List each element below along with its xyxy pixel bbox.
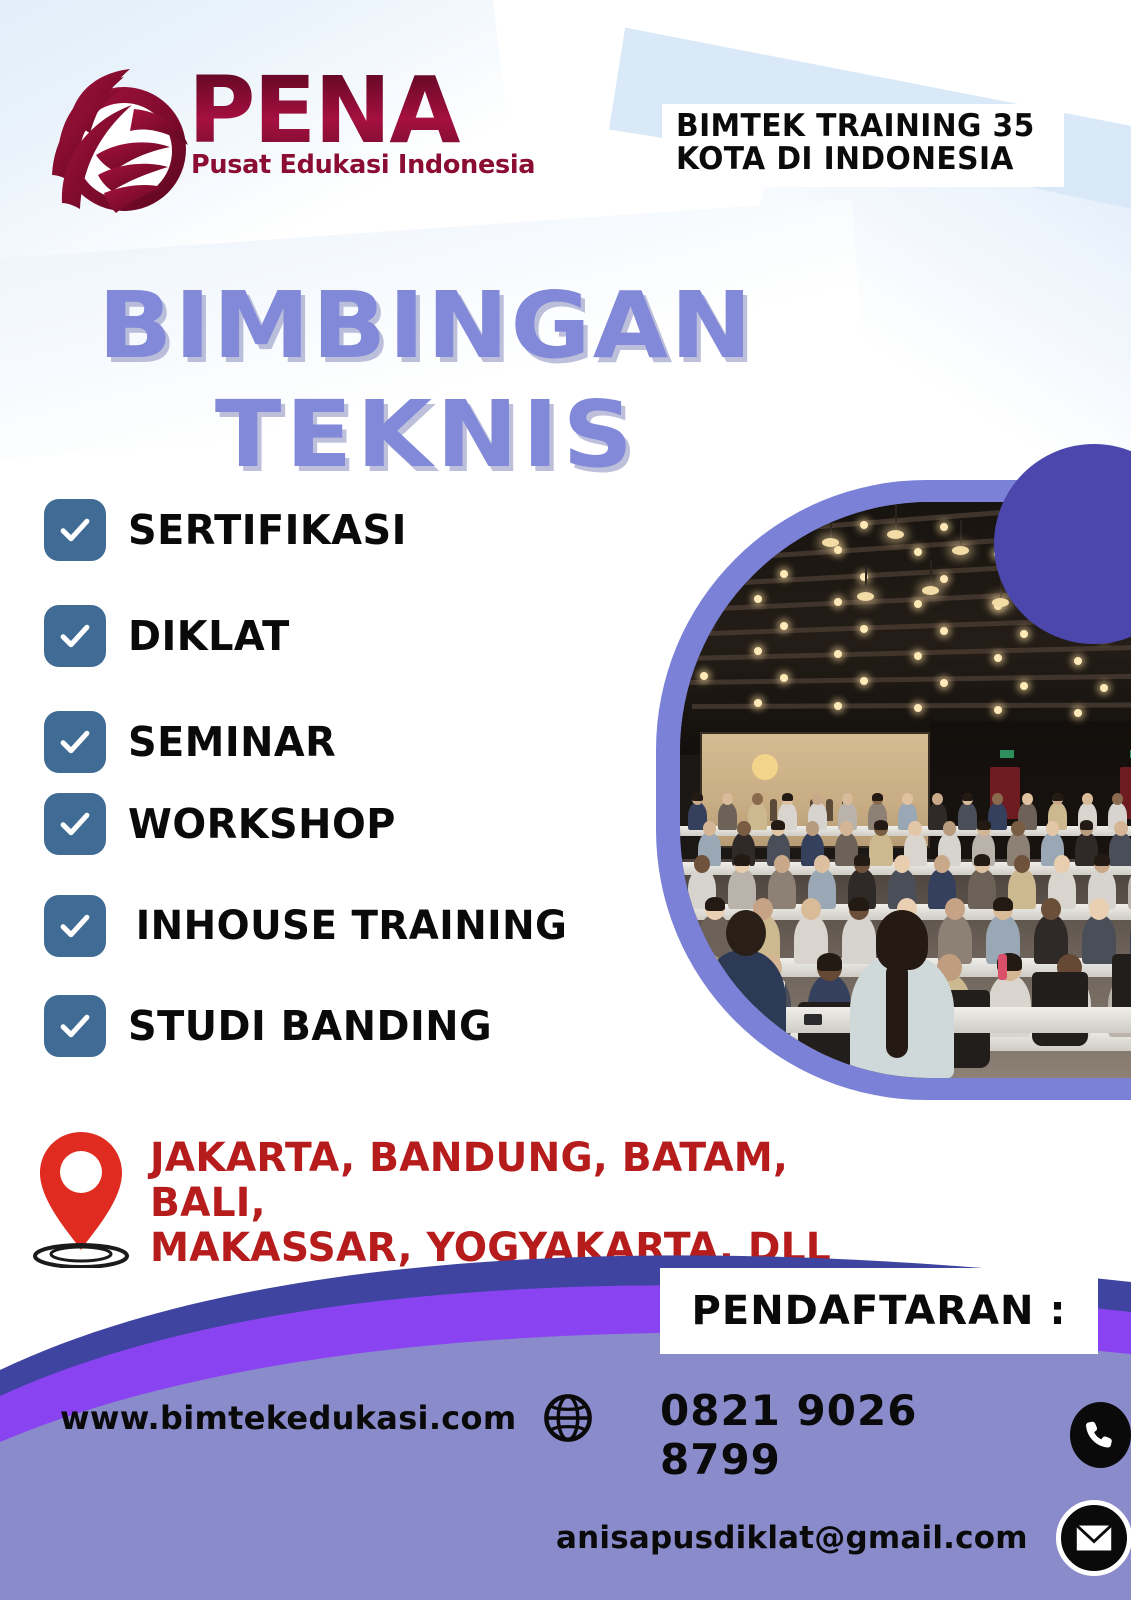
foreground-person-hair [726, 910, 766, 956]
audience-head [1014, 855, 1030, 873]
audience-person [718, 802, 737, 830]
screen-figure [770, 799, 777, 821]
brand-name: PENA [188, 67, 558, 154]
foreground-person-body [702, 950, 786, 1058]
check-icon [56, 511, 94, 549]
pendant-stem [865, 566, 867, 592]
pendant-stem [960, 520, 962, 546]
audience-head [703, 821, 717, 836]
audience-hair [849, 897, 869, 911]
audience-head [902, 793, 913, 805]
pendant-lamp [887, 530, 904, 539]
ceiling-spotlight [914, 704, 922, 712]
list-item-label: STUDI BANDING [128, 1002, 492, 1050]
audience-hair [977, 820, 991, 830]
pendant-lamp [822, 538, 839, 547]
audience-head [814, 855, 830, 873]
audience-head [934, 855, 950, 873]
audience-hair [705, 897, 725, 911]
registration-label: PENDAFTARAN : [692, 1288, 1067, 1334]
audience-person [869, 832, 892, 866]
audience-hair [817, 953, 842, 971]
screen-figure [826, 799, 833, 821]
audience-person [728, 868, 756, 909]
screen-graphic [752, 754, 778, 780]
list-item: WORKSHOP [44, 788, 704, 860]
audience-head [945, 898, 965, 920]
ceiling-spotlight [700, 568, 708, 576]
audience-head [1022, 793, 1033, 805]
envelope-icon [1056, 1500, 1131, 1576]
audience-head [1089, 898, 1109, 920]
check-box-icon [44, 605, 106, 667]
ceiling-spotlight [914, 600, 922, 608]
check-box-icon [44, 995, 106, 1057]
audience-person [968, 868, 996, 909]
audience-head [752, 793, 763, 805]
audience-person [748, 802, 767, 830]
ceiling-spotlight [860, 573, 868, 581]
audience-hair [1094, 854, 1110, 866]
audience-head [1112, 793, 1123, 805]
audience-person [768, 868, 796, 909]
pendant-lamp [992, 598, 1009, 607]
list-item: SEMINAR [44, 706, 704, 778]
page-title-line1: BIMBINGAN [0, 272, 878, 381]
email-text: anisapusdiklat@gmail.com [556, 1520, 1028, 1556]
ceiling-spotlight [1074, 709, 1082, 717]
list-item: SERTIFIKASI [44, 494, 704, 566]
pendant-lamp [857, 592, 874, 601]
pendant-stem [830, 512, 832, 538]
audience-head [932, 793, 943, 805]
list-item: INHOUSE TRAINING [44, 890, 704, 962]
audience-head [1082, 793, 1093, 805]
ceiling-spotlight [834, 546, 842, 554]
brand-tagline: Pusat Edukasi Indonesia [191, 150, 558, 180]
list-item-label: SEMINAR [128, 718, 336, 766]
audience-hair [872, 793, 883, 801]
audience-person [1082, 914, 1116, 964]
audience-head [722, 793, 733, 805]
header-badge-line1: BIMTEK TRAINING 35 [676, 110, 1035, 143]
audience-person [988, 802, 1007, 830]
pendant-stem [895, 504, 897, 530]
audience-head [894, 855, 910, 873]
audience-hair [874, 820, 888, 830]
audience-hair [782, 793, 793, 801]
ceiling-spotlight [834, 598, 842, 606]
ceiling-spotlight [700, 672, 708, 680]
check-icon [56, 1007, 94, 1045]
website-text: www.bimtekedukasi.com [60, 1399, 516, 1437]
audience-hair [993, 897, 1013, 911]
check-box-icon [44, 499, 106, 561]
audience-hair [734, 854, 750, 866]
audience-head [842, 793, 853, 805]
ceiling-spotlight [860, 625, 868, 633]
pendant-lamp [922, 586, 939, 595]
ceiling-spotlight [834, 650, 842, 658]
check-box-icon [44, 711, 106, 773]
poster-canvas: PENA Pusat Edukasi Indonesia BIMTEK TRAI… [0, 0, 1131, 1600]
list-item-label: DIKLAT [128, 612, 290, 660]
ceiling-spotlight [860, 677, 868, 685]
audience-head [992, 793, 1003, 805]
audience-person [842, 914, 876, 964]
audience-head [812, 793, 823, 805]
check-box-icon [44, 895, 106, 957]
foreground-person-hair [876, 910, 928, 970]
audience-head [1054, 855, 1070, 873]
ceiling-spotlight [860, 521, 868, 529]
logo-wordmark: PENA Pusat Edukasi Indonesia [188, 67, 558, 180]
ceiling-spotlight [700, 516, 708, 524]
audience-hair [692, 793, 703, 801]
seminar-photo [656, 480, 1131, 1100]
globe-icon [542, 1392, 594, 1444]
audience-head [737, 821, 751, 836]
audience-person [958, 802, 977, 830]
contact-phone[interactable]: 0821 9026 8799 [660, 1386, 1131, 1484]
foreground-person-ponytail [886, 962, 908, 1058]
check-box-icon [44, 793, 106, 855]
audience-head [806, 821, 820, 836]
audience-head [908, 821, 922, 836]
audience-hair [854, 854, 870, 866]
contact-website[interactable]: www.bimtekedukasi.com [60, 1392, 594, 1444]
audience-hair [1052, 793, 1063, 801]
check-icon [56, 617, 94, 655]
audience-head [1114, 821, 1128, 836]
phone-icon [1070, 1402, 1131, 1468]
ceiling-spotlight [914, 652, 922, 660]
audience-hair [962, 793, 973, 801]
smartphone [804, 1014, 822, 1025]
page-title-line2: TEKNIS [0, 381, 878, 490]
audience-head [1011, 821, 1025, 836]
list-item-label: WORKSHOP [128, 800, 396, 848]
ceiling-spotlight [1020, 630, 1028, 638]
audience-person [1109, 832, 1131, 866]
ceiling-spotlight [834, 702, 842, 710]
audience-head [1046, 821, 1060, 836]
header-badge: BIMTEK TRAINING 35 KOTA DI INDONESIA [662, 104, 1064, 187]
audience-head [774, 855, 790, 873]
check-icon [56, 723, 94, 761]
phone-text: 0821 9026 8799 [660, 1386, 1026, 1484]
audience-head [943, 821, 957, 836]
list-item-label: INHOUSE TRAINING [128, 903, 567, 949]
pena-feather-logo-icon [38, 63, 203, 223]
audience-hair [771, 820, 785, 830]
audience-hair [1080, 820, 1094, 830]
ceiling-spotlight [914, 548, 922, 556]
registration-box: PENDAFTARAN : [660, 1268, 1098, 1354]
check-icon [56, 805, 94, 843]
pendant-lamp [952, 546, 969, 555]
ceiling-spotlight [1020, 682, 1028, 690]
check-icon [56, 907, 94, 945]
page-title: BIMBINGAN TEKNIS [0, 272, 852, 489]
ceiling-spotlight [700, 620, 708, 628]
ceiling-spotlight [1074, 657, 1082, 665]
list-item: DIKLAT [44, 600, 704, 672]
ceiling-spotlight [1100, 684, 1108, 692]
location-line1: JAKARTA, BANDUNG, BATAM, BALI, [150, 1136, 907, 1226]
pendant-stem [930, 560, 932, 586]
water-bottle [998, 954, 1007, 980]
audience-head [1041, 898, 1061, 920]
list-item: STUDI BANDING [44, 990, 704, 1062]
header-badge-line2: KOTA DI INDONESIA [676, 143, 1035, 176]
audience-hair [974, 854, 990, 866]
audience-head [694, 855, 710, 873]
services-checklist: SERTIFIKASI DIKLAT SEMINAR WORKSHOP INHO… [44, 494, 704, 1084]
contact-email[interactable]: anisapusdiklat@gmail.com [556, 1500, 1131, 1576]
audience-head [801, 898, 821, 920]
exit-sign [1000, 750, 1014, 758]
brand-logo: PENA Pusat Edukasi Indonesia [38, 55, 558, 230]
list-item-label: SERTIFIKASI [128, 506, 407, 554]
